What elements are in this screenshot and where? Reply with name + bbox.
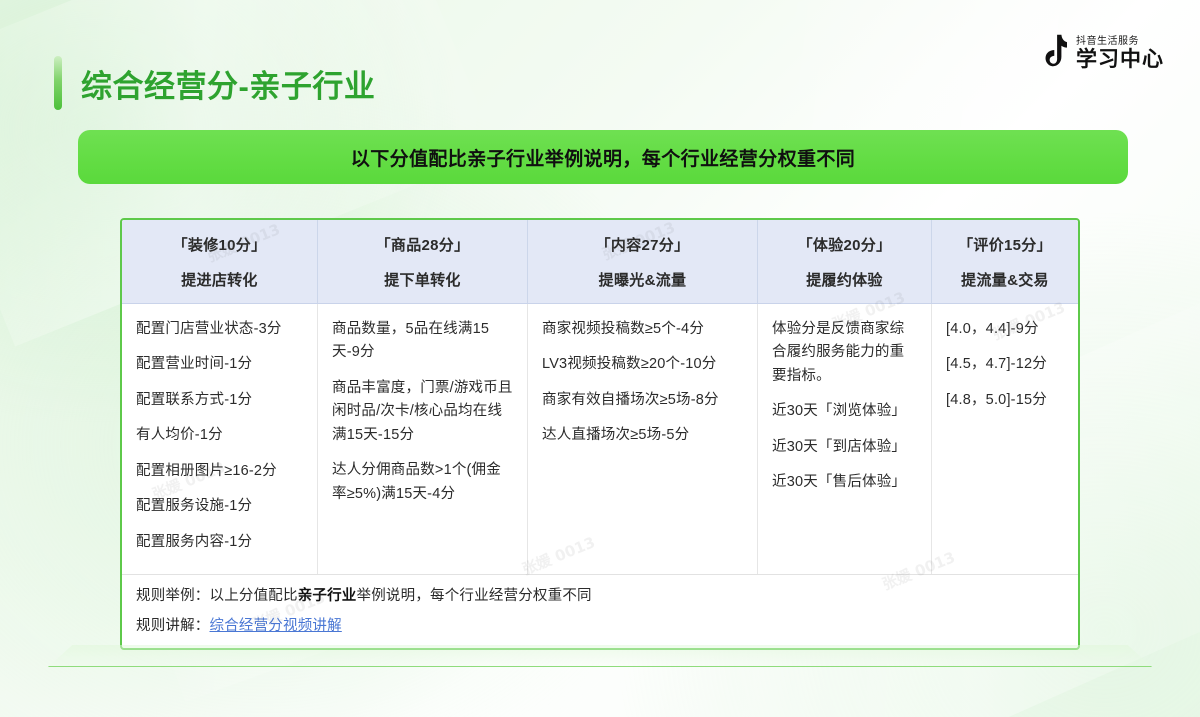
cell-item: 配置服务设施-1分 bbox=[136, 495, 303, 518]
rule-explain-video-link[interactable]: 综合经营分视频讲解 bbox=[210, 618, 342, 634]
table-cell: 商家视频投稿数≥5个-4分LV3视频投稿数≥20个-10分商家有效自播场次≥5场… bbox=[528, 304, 758, 574]
notice-banner-text: 以下分值配比亲子行业举例说明，每个行业经营分权重不同 bbox=[351, 144, 855, 171]
column-title: 「商品28分」 bbox=[376, 234, 470, 255]
rule-example-line: 规则举例：以上分值配比亲子行业举例说明，每个行业经营分权重不同 bbox=[136, 586, 1064, 608]
table-header-row: 「装修10分」提进店转化「商品28分」提下单转化「内容27分」提曝光&流量「体验… bbox=[122, 220, 1078, 304]
cell-item: [4.5，4.7]-12分 bbox=[946, 353, 1064, 376]
table-cell: 商品数量，5品在线满15天-9分商品丰富度，门票/游戏币且闲时品/次卡/核心品均… bbox=[318, 304, 528, 574]
cell-item: 商品丰富度，门票/游戏币且闲时品/次卡/核心品均在线满15天-15分 bbox=[332, 377, 513, 447]
rule-explain-label: 规则讲解： bbox=[136, 618, 210, 634]
logo-subtitle: 抖音生活服务 bbox=[1076, 36, 1164, 47]
rule-example-label: 规则举例： bbox=[136, 588, 210, 604]
column-title: 「评价15分」 bbox=[958, 234, 1052, 255]
cell-item: 配置门店营业状态-3分 bbox=[136, 318, 303, 341]
table-cell: 体验分是反馈商家综合履约服务能力的重要指标。近30天「浏览体验」近30天「到店体… bbox=[758, 304, 932, 574]
page-title: 综合经营分-亲子行业 bbox=[81, 61, 375, 106]
table-column-header: 「体验20分」提履约体验 bbox=[758, 220, 932, 303]
cell-item: 近30天「浏览体验」 bbox=[772, 400, 917, 423]
cell-item: [4.8，5.0]-15分 bbox=[946, 389, 1064, 412]
table-column-header: 「内容27分」提曝光&流量 bbox=[528, 220, 758, 303]
table-column-header: 「商品28分」提下单转化 bbox=[318, 220, 528, 303]
brand-logo: 抖音生活服务 学习中心 bbox=[1037, 34, 1164, 74]
column-subtitle: 提履约体验 bbox=[806, 269, 883, 290]
rule-explain-line: 规则讲解：综合经营分视频讲解 bbox=[136, 616, 1064, 638]
column-title: 「装修10分」 bbox=[173, 234, 267, 255]
table-column-header: 「评价15分」提流量&交易 bbox=[932, 220, 1078, 303]
cell-item: 配置服务内容-1分 bbox=[136, 531, 303, 554]
rule-example-pre: 以上分值配比 bbox=[210, 588, 298, 604]
column-title: 「体验20分」 bbox=[798, 234, 892, 255]
cell-item: 达人直播场次≥5场-5分 bbox=[542, 424, 743, 447]
table-footer: 规则举例：以上分值配比亲子行业举例说明，每个行业经营分权重不同 规则讲解：综合经… bbox=[122, 575, 1078, 649]
rule-example-industry: 亲子行业 bbox=[298, 588, 357, 604]
cell-item: 近30天「到店体验」 bbox=[772, 436, 917, 459]
column-title: 「内容27分」 bbox=[596, 234, 690, 255]
table-column-header: 「装修10分」提进店转化 bbox=[122, 220, 318, 303]
cell-item: 配置相册图片≥16-2分 bbox=[136, 460, 303, 483]
title-accent-bar bbox=[54, 56, 62, 110]
tiktok-note-icon bbox=[1037, 34, 1067, 74]
cell-item: 体验分是反馈商家综合履约服务能力的重要指标。 bbox=[772, 318, 917, 388]
table-cell: 配置门店营业状态-3分配置营业时间-1分配置联系方式-1分有人均价-1分配置相册… bbox=[122, 304, 318, 574]
cell-item: 配置营业时间-1分 bbox=[136, 353, 303, 376]
page-title-row: 综合经营分-亲子行业 bbox=[54, 56, 375, 110]
notice-banner: 以下分值配比亲子行业举例说明，每个行业经营分权重不同 bbox=[78, 130, 1128, 184]
cell-item: 商家视频投稿数≥5个-4分 bbox=[542, 318, 743, 341]
column-subtitle: 提进店转化 bbox=[181, 269, 258, 290]
column-subtitle: 提流量&交易 bbox=[961, 269, 1049, 290]
column-subtitle: 提曝光&流量 bbox=[599, 269, 687, 290]
cell-item: 商品数量，5品在线满15天-9分 bbox=[332, 318, 513, 365]
cell-item: LV3视频投稿数≥20个-10分 bbox=[542, 353, 743, 376]
rule-example-post: 举例说明，每个行业经营分权重不同 bbox=[357, 588, 592, 604]
cell-item: 有人均价-1分 bbox=[136, 424, 303, 447]
cell-item: 商家有效自播场次≥5场-8分 bbox=[542, 389, 743, 412]
cell-item: 达人分佣商品数>1个(佣金率≥5%)满15天-4分 bbox=[332, 459, 513, 506]
logo-title: 学习中心 bbox=[1076, 49, 1164, 71]
cell-item: 配置联系方式-1分 bbox=[136, 389, 303, 412]
column-subtitle: 提下单转化 bbox=[384, 269, 461, 290]
table-body-row: 配置门店营业状态-3分配置营业时间-1分配置联系方式-1分有人均价-1分配置相册… bbox=[122, 304, 1078, 575]
table-cell: [4.0，4.4]-9分[4.5，4.7]-12分[4.8，5.0]-15分 bbox=[932, 304, 1078, 574]
score-breakdown-table: 「装修10分」提进店转化「商品28分」提下单转化「内容27分」提曝光&流量「体验… bbox=[120, 218, 1080, 650]
cell-item: 近30天「售后体验」 bbox=[772, 471, 917, 494]
cell-item: [4.0，4.4]-9分 bbox=[946, 318, 1064, 341]
bottom-decoration bbox=[48, 645, 1152, 667]
